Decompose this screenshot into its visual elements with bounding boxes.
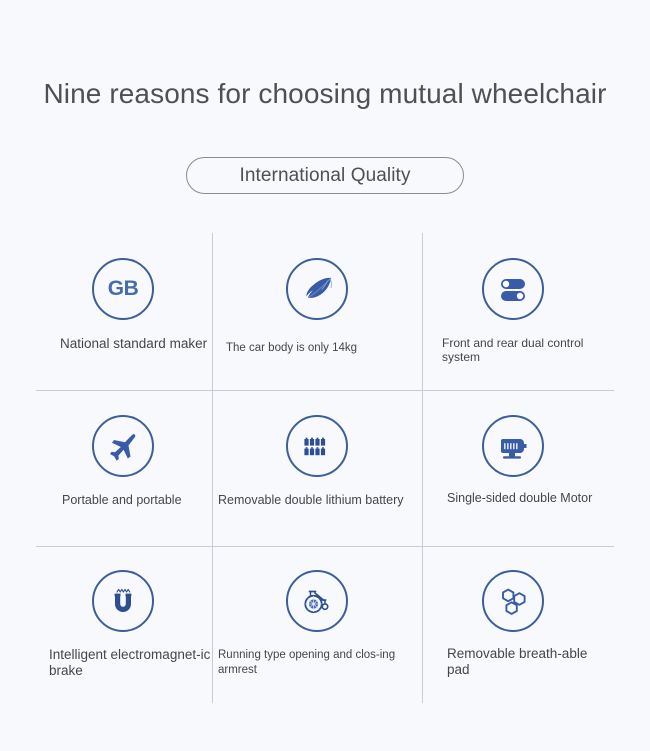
feature-cell-national-standard: GB National standard maker: [36, 233, 212, 390]
feature-cell-lightweight: The car body is only 14kg: [213, 233, 422, 390]
feature-caption: Running type opening and clos-ing armres…: [218, 648, 418, 677]
feature-caption: National standard maker: [60, 336, 210, 352]
feature-caption: The car body is only 14kg: [226, 341, 421, 355]
feather-icon: [286, 258, 348, 320]
electric-motor-icon: [482, 415, 544, 477]
feature-cell-dual-control: Front and rear dual control system: [423, 233, 614, 390]
feature-caption: Front and rear dual control system: [442, 336, 607, 365]
international-quality-badge: International Quality: [186, 157, 464, 194]
feature-cell-electromagnetic-brake: Intelligent electromagnet-ic brake: [36, 547, 212, 703]
gb-standard-icon: GB: [92, 258, 154, 320]
feature-cell-dual-motor: Single-sided double Motor: [423, 391, 614, 546]
feature-caption: Removable breath-able pad: [447, 646, 597, 679]
horseshoe-magnet-icon: [92, 570, 154, 632]
feature-cell-portable: Portable and portable: [36, 391, 212, 546]
feature-caption: Single-sided double Motor: [447, 491, 597, 507]
page-title: Nine reasons for choosing mutual wheelch…: [0, 78, 650, 110]
wheelchair-icon: [286, 570, 348, 632]
feature-caption: Removable double lithium battery: [218, 493, 418, 509]
feature-caption: Portable and portable: [62, 493, 222, 509]
airplane-icon: [92, 415, 154, 477]
feature-grid-page: Nine reasons for choosing mutual wheelch…: [0, 0, 650, 751]
honeycomb-icon: [482, 570, 544, 632]
feature-caption: Intelligent electromagnet-ic brake: [49, 647, 214, 680]
feature-cell-breathable-pad: Removable breath-able pad: [423, 547, 614, 703]
feature-cell-armrest: Running type opening and clos-ing armres…: [213, 547, 422, 703]
gb-standard-icon-label: GB: [108, 277, 139, 301]
feature-cell-lithium-battery: Removable double lithium battery: [213, 391, 422, 546]
dual-toggle-switch-icon: [482, 258, 544, 320]
features-grid: GB National standard maker The car body …: [36, 233, 614, 703]
badge-label: International Quality: [239, 165, 410, 187]
battery-cells-icon: [286, 415, 348, 477]
